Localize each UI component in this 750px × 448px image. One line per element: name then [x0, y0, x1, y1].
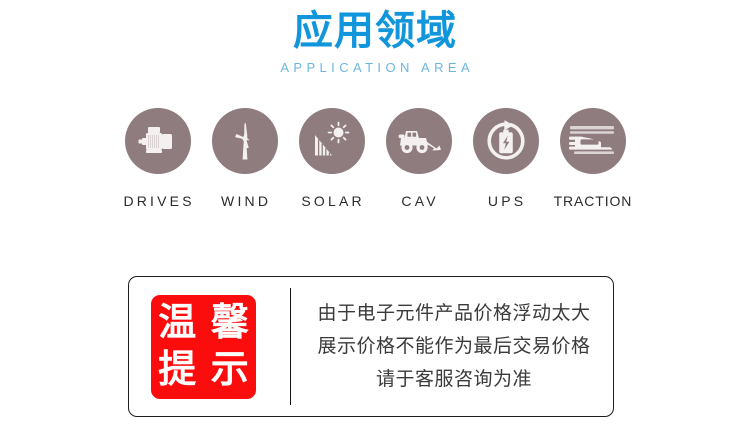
application-item-cav[interactable]: CAV: [385, 108, 452, 209]
page-title: 应用领域: [0, 0, 750, 54]
application-label: TRACTION: [553, 193, 633, 209]
application-area-list: DRIVES WIND: [0, 108, 750, 209]
application-label: WIND: [218, 193, 271, 209]
application-label: CAV: [398, 193, 439, 209]
page-header: 应用领域 APPLICATION AREA: [0, 0, 750, 76]
application-item-ups[interactable]: UPS: [472, 108, 539, 209]
wind-turbine-icon: [227, 119, 263, 163]
page-subtitle: APPLICATION AREA: [0, 54, 750, 76]
notice-line: 展示价格不能作为最后交易价格: [301, 330, 607, 363]
notice-text-block: 由于电子元件产品价格浮动太大 展示价格不能作为最后交易价格 请于客服咨询为准: [291, 297, 613, 396]
application-label: DRIVES: [120, 193, 195, 209]
application-item-drives[interactable]: DRIVES: [124, 108, 191, 209]
application-label: SOLAR: [298, 193, 365, 209]
application-item-wind[interactable]: WIND: [211, 108, 278, 209]
application-icon-circle: [473, 108, 539, 174]
notice-badge-char: 温: [151, 300, 204, 347]
notice-badge-char: 提: [151, 347, 204, 394]
application-icon-circle: [299, 108, 365, 174]
application-icon-circle: [212, 108, 278, 174]
application-item-solar[interactable]: SOLAR: [298, 108, 365, 209]
application-label: UPS: [485, 193, 527, 209]
notice-line: 请于客服咨询为准: [301, 363, 607, 396]
high-speed-train-icon: [568, 123, 618, 159]
application-icon-circle: [560, 108, 626, 174]
solar-panel-sun-icon: [311, 121, 353, 161]
electric-motor-icon: [137, 124, 179, 158]
wheel-loader-icon: [396, 125, 442, 157]
notice-badge-char: 示: [204, 347, 257, 394]
application-icon-circle: [386, 108, 452, 174]
battery-recycle-icon: [484, 119, 528, 163]
notice-badge-char: 馨: [204, 300, 257, 347]
notice-line: 由于电子元件产品价格浮动太大: [301, 297, 607, 330]
notice-box: 温 馨 提 示 由于电子元件产品价格浮动太大 展示价格不能作为最后交易价格 请于…: [128, 276, 614, 417]
application-icon-circle: [125, 108, 191, 174]
application-item-traction[interactable]: TRACTION: [559, 108, 626, 209]
notice-badge: 温 馨 提 示: [151, 295, 256, 399]
